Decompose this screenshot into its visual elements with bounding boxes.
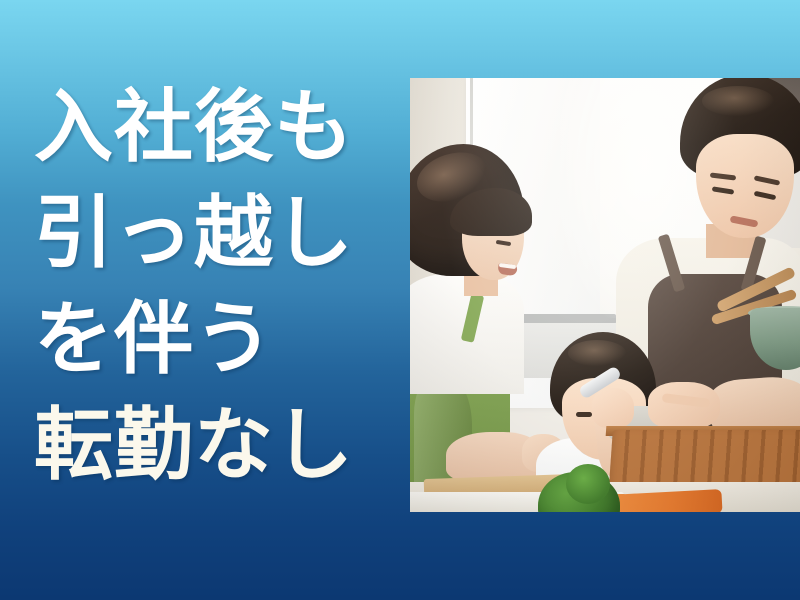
headline-line-1: 入社後も [34,74,406,180]
banner-root: 入社後も 引っ越し を伴う 転勤なし [0,0,800,600]
broccoli-floret [566,464,610,504]
headline-line-4: 転勤なし [34,392,406,498]
headline-line-3: を伴う [34,286,406,392]
father-hand [648,382,720,430]
headline-block: 入社後も 引っ越し を伴う 転勤なし [34,74,406,498]
family-cooking-photo [410,78,800,512]
headline-line-2: 引っ越し [34,180,406,286]
child-eye-left [576,412,592,417]
child-hair-sheen [568,340,626,366]
child-hand [592,388,634,428]
father-hair-sheen [702,86,774,116]
